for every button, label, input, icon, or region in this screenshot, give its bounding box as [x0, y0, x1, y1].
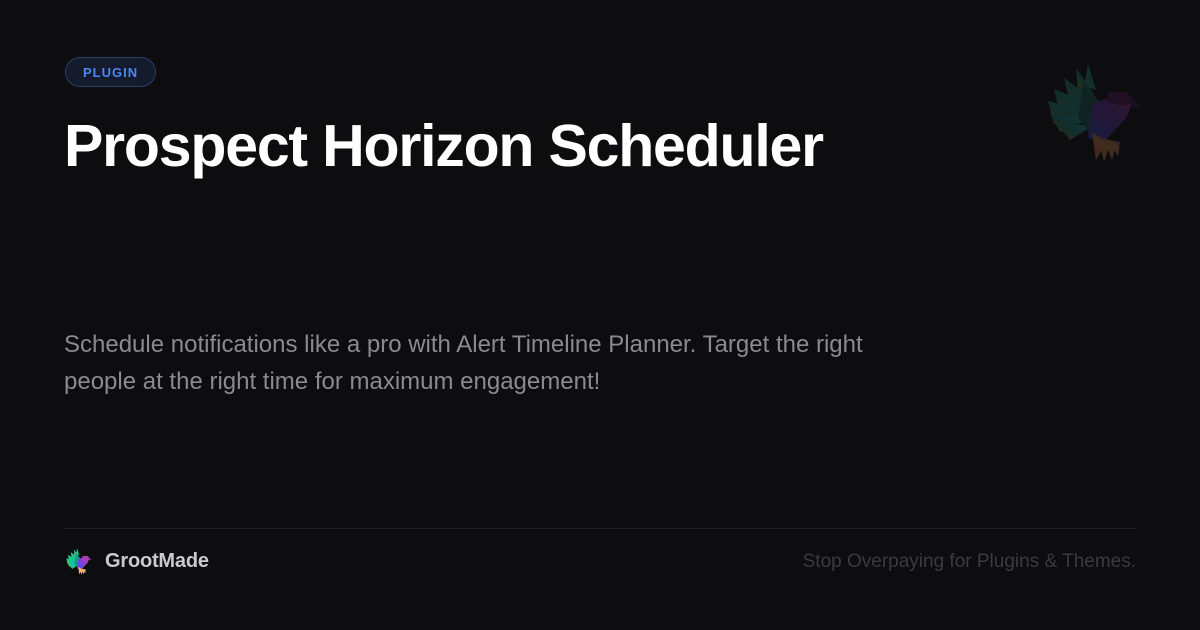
category-badge-label: PLUGIN — [83, 66, 138, 79]
footer-tagline: Stop Overpaying for Plugins & Themes. — [803, 552, 1136, 571]
hummingbird-watermark-icon — [1048, 56, 1142, 166]
footer-divider — [64, 528, 1136, 529]
category-badge: PLUGIN — [65, 57, 156, 87]
footer: GrootMade Stop Overpaying for Plugins & … — [64, 543, 1136, 579]
social-preview-card: PLUGIN Prospect Horizon Scheduler Schedu… — [0, 0, 1200, 630]
brand-name: GrootMade — [105, 551, 209, 571]
hummingbird-logo-icon — [64, 546, 94, 576]
brand: GrootMade — [64, 546, 209, 576]
page-title: Prospect Horizon Scheduler — [64, 113, 823, 179]
page-description: Schedule notifications like a pro with A… — [64, 326, 884, 400]
